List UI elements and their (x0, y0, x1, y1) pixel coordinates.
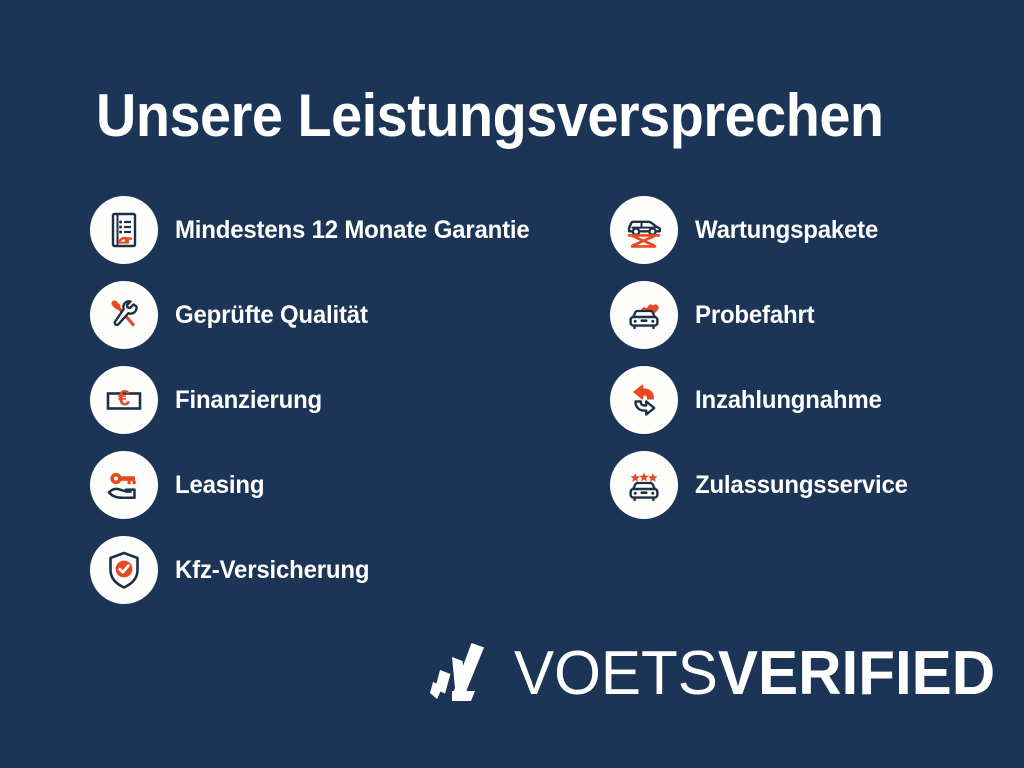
feature-item-zulassungsservice: Zulassungsservice (610, 451, 1010, 519)
svg-text:€: € (118, 386, 130, 411)
feature-label: Zulassungsservice (695, 471, 908, 500)
feature-label: Wartungspakete (695, 216, 878, 245)
car-with-stars-icon (610, 451, 678, 519)
certificate-document-icon (90, 196, 158, 264)
logo-name-bold: VERIFIED (718, 639, 995, 708)
exchange-arrows-icon (610, 366, 678, 434)
page-title: Unsere Leistungsversprechen (96, 84, 914, 147)
brand-logo: VOETSVERIFIED (430, 634, 1010, 714)
feature-item-inzahlungnahme: Inzahlungnahme (610, 366, 1010, 434)
feature-column-right: Wartungspakete (610, 196, 1010, 536)
feature-label: Geprüfte Qualität (175, 301, 368, 330)
feature-item-finanzierung: € Finanzierung (90, 366, 610, 434)
feature-item-leasing: Leasing (90, 451, 610, 519)
feature-label: Kfz-Versicherung (175, 556, 369, 585)
feature-label: Finanzierung (175, 386, 322, 415)
key-in-hand-icon (90, 451, 158, 519)
feature-item-probefahrt: Probefahrt (610, 281, 1010, 349)
euro-banknote-icon: € (90, 366, 158, 434)
wrench-screwdriver-icon (90, 281, 158, 349)
feature-label: Inzahlungnahme (695, 386, 882, 415)
feature-column-left: Mindestens 12 Monate Garantie Geprüfte Q… (90, 196, 610, 621)
car-with-hearts-icon (610, 281, 678, 349)
shield-check-icon (90, 536, 158, 604)
feature-item-wartungspakete: Wartungspakete (610, 196, 1010, 264)
car-on-lift-icon (610, 196, 678, 264)
feature-item-versicherung: Kfz-Versicherung (90, 536, 610, 604)
feature-label: Mindestens 12 Monate Garantie (175, 216, 530, 245)
feature-label: Probefahrt (695, 301, 814, 330)
feature-item-qualitaet: Geprüfte Qualität (90, 281, 610, 349)
voets-checkmark-logo-icon (430, 639, 492, 709)
feature-label: Leasing (175, 471, 264, 500)
feature-list: Mindestens 12 Monate Garantie Geprüfte Q… (0, 196, 1024, 616)
promo-banner: Unsere Leistungsversprechen (0, 0, 1024, 768)
logo-name-light: VOETS (514, 639, 718, 708)
logo-wordmark: VOETSVERIFIED (514, 643, 995, 705)
feature-item-garantie: Mindestens 12 Monate Garantie (90, 196, 610, 264)
